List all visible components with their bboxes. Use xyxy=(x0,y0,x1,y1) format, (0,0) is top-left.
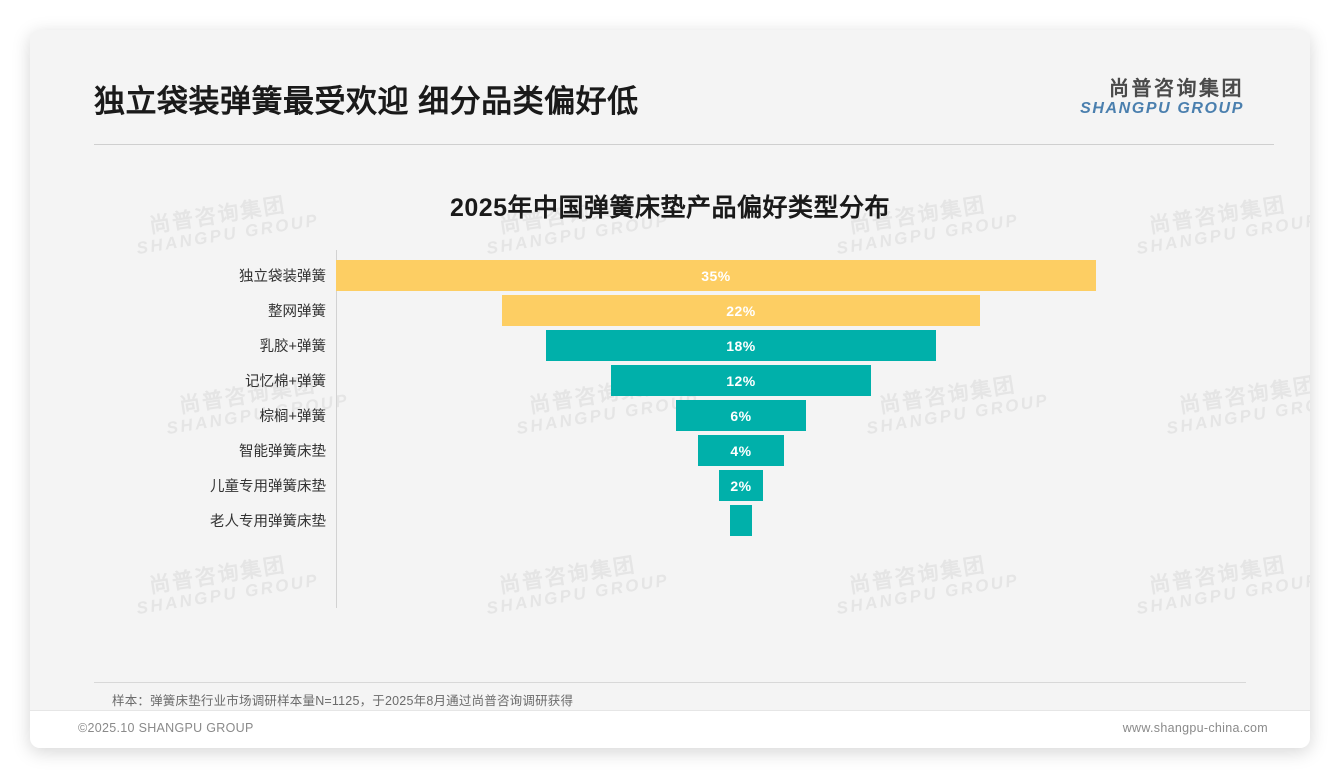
bar-track: 22% xyxy=(336,293,1096,328)
chart-row: 老人专用弹簧床垫 xyxy=(30,503,1310,538)
chart-bar[interactable]: 4% xyxy=(698,435,785,466)
chart-title: 2025年中国弹簧床垫产品偏好类型分布 xyxy=(30,188,1310,224)
category-label: 棕榈+弹簧 xyxy=(30,405,326,426)
chart-row: 儿童专用弹簧床垫2% xyxy=(30,468,1310,503)
category-label: 儿童专用弹簧床垫 xyxy=(30,475,326,496)
page-title: 独立袋装弹簧最受欢迎 细分品类偏好低 xyxy=(94,76,639,121)
category-label: 整网弹簧 xyxy=(30,300,326,321)
category-label: 记忆棉+弹簧 xyxy=(30,370,326,391)
chart-container: 2025年中国弹簧床垫产品偏好类型分布 独立袋装弹簧35%整网弹簧22%乳胶+弹… xyxy=(30,170,1310,670)
chart-row: 乳胶+弹簧18% xyxy=(30,328,1310,363)
brand-logo: 尚普咨询集团 SHANGPU GROUP xyxy=(1080,78,1244,118)
footer-copyright: ©2025.10 SHANGPU GROUP xyxy=(78,721,254,735)
bar-value-label: 6% xyxy=(730,408,751,424)
chart-bar[interactable]: 12% xyxy=(611,365,872,396)
chart-plot-area: 独立袋装弹簧35%整网弹簧22%乳胶+弹簧18%记忆棉+弹簧12%棕榈+弹簧6%… xyxy=(30,258,1310,618)
footnote-divider xyxy=(94,682,1246,683)
chart-row: 独立袋装弹簧35% xyxy=(30,258,1310,293)
chart-bar[interactable]: 18% xyxy=(546,330,937,361)
category-label: 智能弹簧床垫 xyxy=(30,440,326,461)
footer-website[interactable]: www.shangpu-china.com xyxy=(1123,721,1268,735)
header-divider xyxy=(94,144,1274,145)
slide-card: 尚普咨询集团SHANGPU GROUP尚普咨询集团SHANGPU GROUP尚普… xyxy=(30,30,1310,748)
bar-track: 18% xyxy=(336,328,1096,363)
chart-bar[interactable]: 2% xyxy=(719,470,762,501)
bar-value-label: 4% xyxy=(730,443,751,459)
bar-value-label: 12% xyxy=(726,373,756,389)
bar-track xyxy=(336,503,1096,538)
bar-track: 6% xyxy=(336,398,1096,433)
bar-value-label: 22% xyxy=(726,303,756,319)
brand-logo-cn: 尚普咨询集团 xyxy=(1080,78,1244,100)
chart-bar[interactable]: 22% xyxy=(502,295,980,326)
category-label: 乳胶+弹簧 xyxy=(30,335,326,356)
bar-track: 2% xyxy=(336,468,1096,503)
bar-value-label: 18% xyxy=(726,338,756,354)
chart-bar[interactable] xyxy=(730,505,752,536)
footnote-text: 样本：弹簧床垫行业市场调研样本量N=1125，于2025年8月通过尚普咨询调研获… xyxy=(112,690,573,709)
slide-footer: ©2025.10 SHANGPU GROUP www.shangpu-china… xyxy=(30,710,1310,748)
bar-track: 35% xyxy=(336,258,1096,293)
bar-value-label: 35% xyxy=(701,268,731,284)
brand-logo-en: SHANGPU GROUP xyxy=(1080,100,1244,118)
category-label: 独立袋装弹簧 xyxy=(30,265,326,286)
bar-value-label: 2% xyxy=(730,478,751,494)
chart-rows: 独立袋装弹簧35%整网弹簧22%乳胶+弹簧18%记忆棉+弹簧12%棕榈+弹簧6%… xyxy=(30,258,1310,538)
chart-row: 棕榈+弹簧6% xyxy=(30,398,1310,433)
slide-header: 独立袋装弹簧最受欢迎 细分品类偏好低 尚普咨询集团 SHANGPU GROUP xyxy=(94,60,1246,126)
category-label: 老人专用弹簧床垫 xyxy=(30,510,326,531)
bar-track: 4% xyxy=(336,433,1096,468)
chart-bar[interactable]: 6% xyxy=(676,400,806,431)
chart-row: 智能弹簧床垫4% xyxy=(30,433,1310,468)
chart-row: 整网弹簧22% xyxy=(30,293,1310,328)
chart-bar[interactable]: 35% xyxy=(336,260,1096,291)
chart-row: 记忆棉+弹簧12% xyxy=(30,363,1310,398)
bar-track: 12% xyxy=(336,363,1096,398)
